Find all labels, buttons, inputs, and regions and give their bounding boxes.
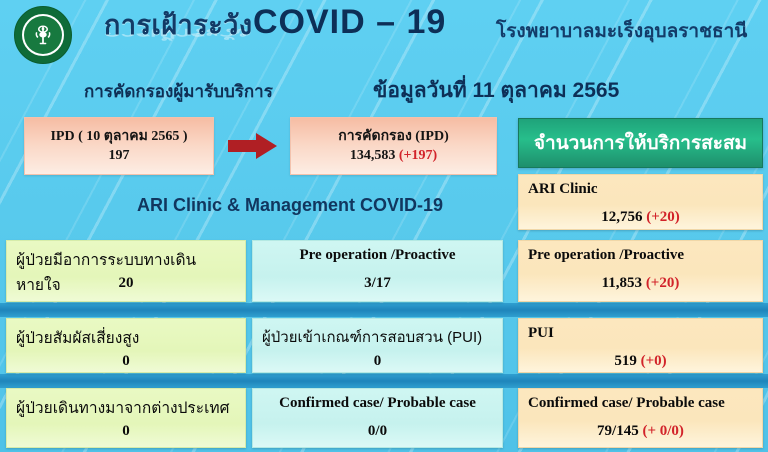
card-left-respiratory-value: 20	[7, 275, 245, 292]
page-header: การเฝ้าระวัง การเฝ้าระวัง COVID – 19 โรง…	[0, 0, 768, 66]
ipd-source-value: 197	[25, 148, 213, 164]
cumulative-service-header: จำนวนการให้บริการสะสม	[518, 118, 763, 168]
cumulative-service-header-label: จำนวนการให้บริการสะสม	[534, 128, 747, 158]
ipd-screening-value-row: 134,583 (+197)	[291, 148, 496, 164]
card-right-pre-operation: Pre operation /Proactive 11,853 (+20)	[518, 240, 763, 302]
card-left-respiratory: ผู้ป่วยมีอาการระบบทางเดินหายใจ 20	[6, 240, 246, 302]
hospital-name: โรงพยาบาลมะเร็งอุบลราชธานี	[496, 22, 747, 41]
slide-root: การเฝ้าระวัง การเฝ้าระวัง COVID – 19 โรง…	[0, 0, 768, 452]
card-right-pre-operation-value-row: 11,853 (+20)	[519, 275, 762, 292]
row-divider-1	[0, 303, 768, 317]
ipd-source-label: IPD ( 10 ตุลาคม 2565 )	[25, 125, 213, 147]
card-right-ari-clinic: ARI Clinic 12,756 (+20)	[518, 174, 763, 230]
card-right-pui-value: 519	[614, 353, 637, 369]
card-middle-confirmed-probable-label: Confirmed case/ Probable case	[253, 395, 502, 412]
card-middle-pre-operation-value: 3/17	[253, 275, 502, 292]
card-right-ari-clinic-delta: (+20)	[646, 209, 680, 225]
ipd-screening-box: การคัดกรอง (IPD) 134,583 (+197)	[290, 117, 497, 175]
ipd-screening-delta: (+197)	[399, 148, 437, 163]
card-left-high-risk-contact-label: ผู้ป่วยสัมผัสเสี่ยงสูง	[16, 325, 239, 350]
card-right-pui-value-row: 519 (+0)	[519, 353, 762, 370]
page-title-thai: การเฝ้าระวัง	[104, 12, 253, 39]
page-title-covid: COVID – 19	[253, 5, 446, 39]
card-right-pre-operation-value: 11,853	[602, 275, 642, 291]
card-right-pre-operation-label: Pre operation /Proactive	[528, 247, 756, 264]
card-right-pui-label: PUI	[528, 325, 756, 342]
card-middle-pui-value: 0	[253, 353, 502, 370]
card-right-confirmed-probable-value: 79/145	[597, 423, 639, 439]
card-middle-pui: ผู้ป่วยเข้าเกณฑ์การสอบสวน (PUI) 0	[252, 318, 503, 373]
card-middle-pui-label: ผู้ป่วยเข้าเกณฑ์การสอบสวน (PUI)	[262, 325, 496, 349]
card-right-pre-operation-delta: (+20)	[646, 275, 680, 291]
ari-clinic-section-title: ARI Clinic & Management COVID-19	[137, 195, 443, 216]
screening-section-label: การคัดกรองผู้มารับบริการ	[84, 78, 273, 105]
card-middle-pre-operation-label: Pre operation /Proactive	[253, 247, 502, 264]
card-left-high-risk-contact-value: 0	[7, 353, 245, 370]
card-right-pui: PUI 519 (+0)	[518, 318, 763, 373]
ipd-source-box: IPD ( 10 ตุลาคม 2565 ) 197	[24, 117, 214, 175]
card-right-ari-clinic-value: 12,756	[601, 209, 642, 225]
card-left-from-abroad-label: ผู้ป่วยเดินทางมาจากต่างประเทศ	[16, 395, 239, 420]
row-divider-2	[0, 374, 768, 388]
card-left-high-risk-contact: ผู้ป่วยสัมผัสเสี่ยงสูง 0	[6, 318, 246, 373]
card-right-pui-delta: (+0)	[641, 353, 667, 369]
card-right-confirmed-probable-delta: (+ 0/0)	[642, 423, 683, 439]
card-right-confirmed-probable-value-row: 79/145 (+ 0/0)	[519, 423, 762, 440]
card-right-confirmed-probable: Confirmed case/ Probable case 79/145 (+ …	[518, 388, 763, 448]
ministry-of-public-health-emblem-icon	[14, 6, 72, 64]
card-left-from-abroad: ผู้ป่วยเดินทางมาจากต่างประเทศ 0	[6, 388, 246, 448]
card-middle-confirmed-probable: Confirmed case/ Probable case 0/0	[252, 388, 503, 448]
data-date-label: ข้อมูลวันที่ 11 ตุลาคม 2565	[373, 74, 619, 107]
card-middle-pre-operation: Pre operation /Proactive 3/17	[252, 240, 503, 302]
ipd-screening-label: การคัดกรอง (IPD)	[291, 125, 496, 147]
ipd-screening-value: 134,583	[350, 148, 396, 163]
card-right-confirmed-probable-label: Confirmed case/ Probable case	[528, 395, 756, 412]
card-left-from-abroad-value: 0	[7, 423, 245, 440]
card-middle-confirmed-probable-value: 0/0	[253, 423, 502, 440]
right-arrow-icon	[228, 132, 278, 160]
card-right-ari-clinic-value-row: 12,756 (+20)	[519, 209, 762, 226]
card-right-ari-clinic-label: ARI Clinic	[528, 181, 756, 198]
